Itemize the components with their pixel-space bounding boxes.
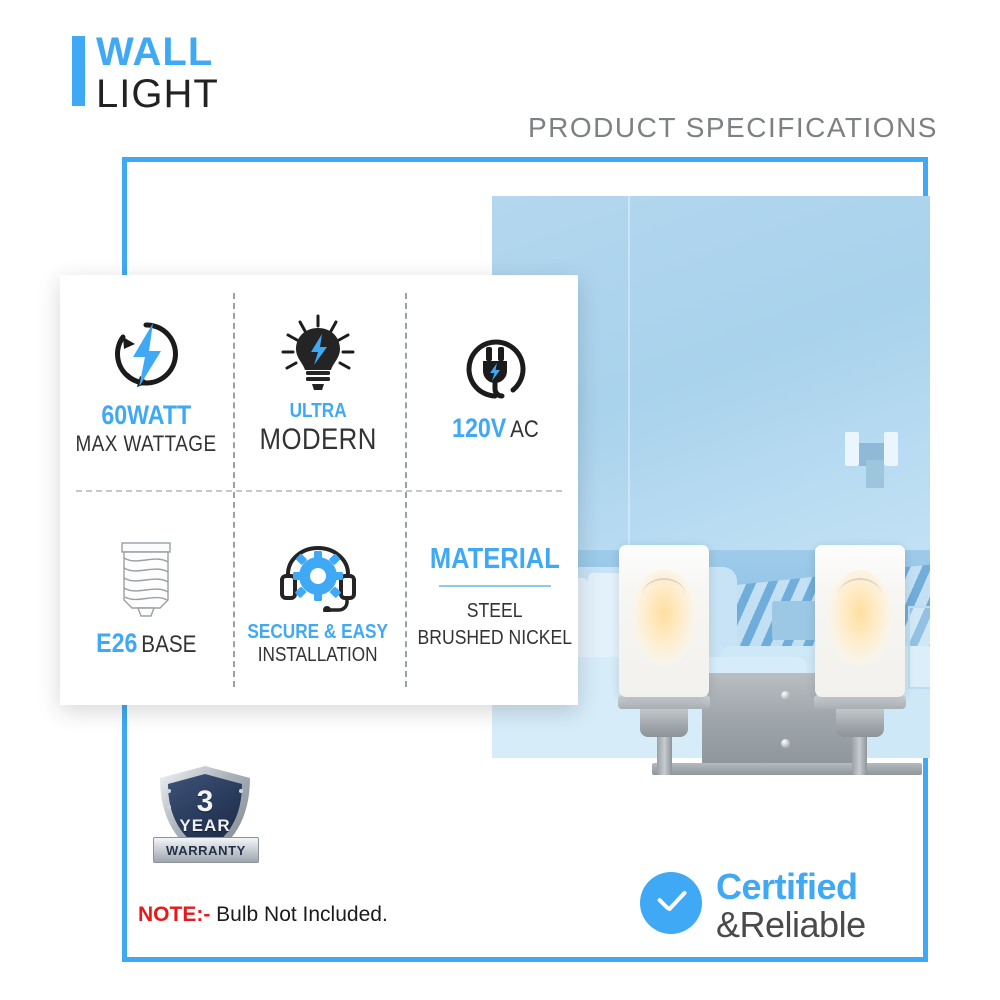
product-shade-ring-right xyxy=(814,695,906,709)
spec-value-wattage: 60WATT xyxy=(101,400,191,431)
light-bulb-bolt-icon xyxy=(278,308,358,400)
spec-caption-installation: INSTALLATION xyxy=(258,644,378,667)
check-circle-icon xyxy=(640,872,702,934)
spec-cell-voltage: 120V AC xyxy=(403,275,587,490)
headset-gear-icon xyxy=(275,529,361,621)
warranty-badge: 3 YEAR WARRANTY xyxy=(155,763,255,868)
product-socket-right xyxy=(836,705,884,737)
background-sconce-shade-left xyxy=(845,432,859,466)
power-cycle-bolt-icon xyxy=(109,308,183,400)
spec-caption-wattage: MAX WATTAGE xyxy=(75,431,216,457)
spec-value-base: E26 xyxy=(96,628,137,658)
spec-cell-material: MATERIAL STEEL BRUSHED NICKEL xyxy=(403,490,587,705)
note-text: NOTE:- Bulb Not Included. xyxy=(138,903,388,927)
product-wall-light xyxy=(592,545,932,835)
product-shade-ring-left xyxy=(618,695,710,709)
spec-value-installation: SECURE & EASY xyxy=(247,621,388,644)
background-sconce-shade-right xyxy=(884,432,898,466)
e26-screw-base-icon xyxy=(103,536,189,628)
header-accent-bar xyxy=(72,36,85,106)
specifications-card: 60WATT MAX WATTAGE xyxy=(60,275,578,705)
product-glass-shade-right xyxy=(815,545,905,697)
spec-cell-wattage: 60WATT MAX WATTAGE xyxy=(60,275,232,490)
wall-corner-line xyxy=(628,196,630,567)
spec-cell-installation: SECURE & EASY INSTALLATION xyxy=(232,490,403,705)
spec-value-voltage: 120V xyxy=(452,413,506,443)
page-title-line1: WALL xyxy=(96,28,213,76)
warranty-ribbon-label: WARRANTY xyxy=(166,843,246,858)
spec-caption-base: BASE xyxy=(141,631,196,658)
certified-line2: &Reliable xyxy=(716,904,866,946)
spec-caption-style: MODERN xyxy=(259,423,376,457)
spec-cell-style: ULTRA MODERN xyxy=(232,275,403,490)
spec-caption-material-1: STEEL xyxy=(467,598,523,625)
spec-cell-base: E26 BASE xyxy=(60,490,232,705)
check-stroke-long xyxy=(667,890,688,912)
product-socket-left xyxy=(640,705,688,737)
spec-value-voltage-group: 120V AC xyxy=(452,413,539,444)
spec-value-material: MATERIAL xyxy=(430,543,560,576)
note-label: NOTE:- xyxy=(138,903,210,926)
certified-badge: Certified &Reliable xyxy=(640,866,910,948)
spec-value-base-group: E26 BASE xyxy=(96,628,196,659)
note-body: Bulb Not Included. xyxy=(210,903,387,926)
product-glass-shade-left xyxy=(619,545,709,697)
certified-line1: Certified xyxy=(716,866,858,908)
plug-circle-icon xyxy=(458,321,532,413)
warranty-period: YEAR xyxy=(155,816,255,836)
spec-value-style: ULTRA xyxy=(289,400,346,423)
warranty-years: 3 xyxy=(155,785,255,819)
spec-caption-material-2: BRUSHED NICKEL xyxy=(418,625,573,652)
section-title: PRODUCT SPECIFICATIONS xyxy=(528,112,938,144)
spec-caption-voltage: AC xyxy=(510,416,539,443)
page-title-line2: LIGHT xyxy=(96,70,219,118)
material-underline xyxy=(439,585,551,587)
infographic-canvas: WALL LIGHT PRODUCT SPECIFICATIONS xyxy=(0,0,1000,1000)
warranty-ribbon: WARRANTY xyxy=(153,837,259,863)
background-sconce-arm xyxy=(866,460,884,488)
product-crossbar xyxy=(652,763,922,775)
